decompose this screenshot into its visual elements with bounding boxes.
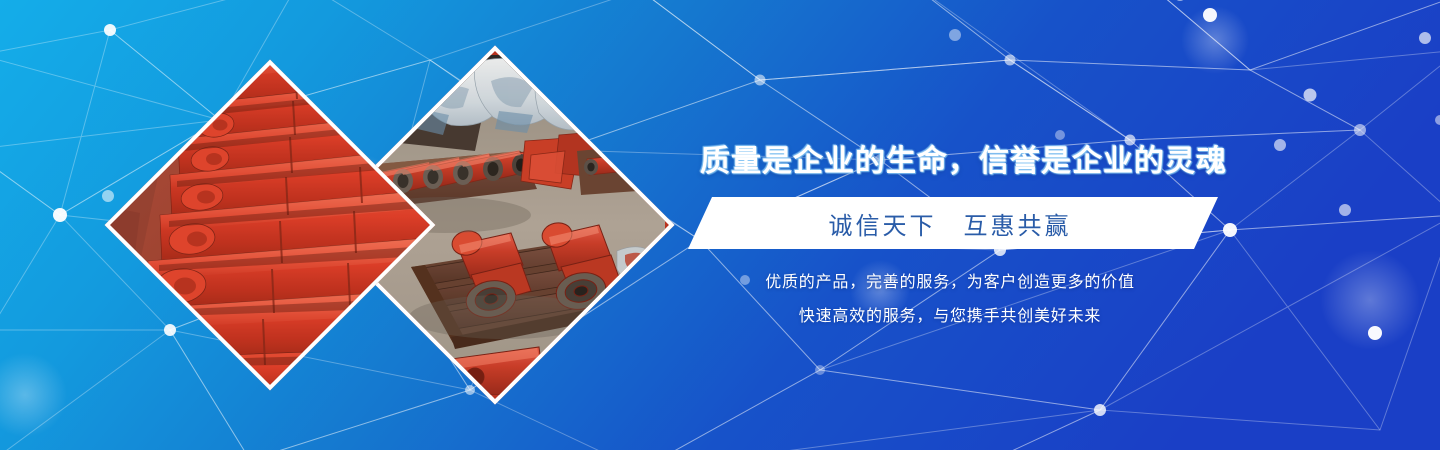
promo-banner: 质量是企业的生命，信誉是企业的灵魂 诚信天下 互惠共赢 优质的产品，完善的服务，… <box>0 0 1440 450</box>
subtitle-line-2: 快速高效的服务，与您携手共创美好未来 <box>700 302 1200 326</box>
subtitle-line-1: 优质的产品，完善的服务，为客户创造更多的价值 <box>700 268 1200 292</box>
banner-headline: 质量是企业的生命，信誉是企业的灵魂 <box>700 136 1200 180</box>
slogan-text: 诚信天下 互惠共赢 <box>688 197 1218 249</box>
slogan-bar: 诚信天下 互惠共赢 <box>688 197 1218 249</box>
